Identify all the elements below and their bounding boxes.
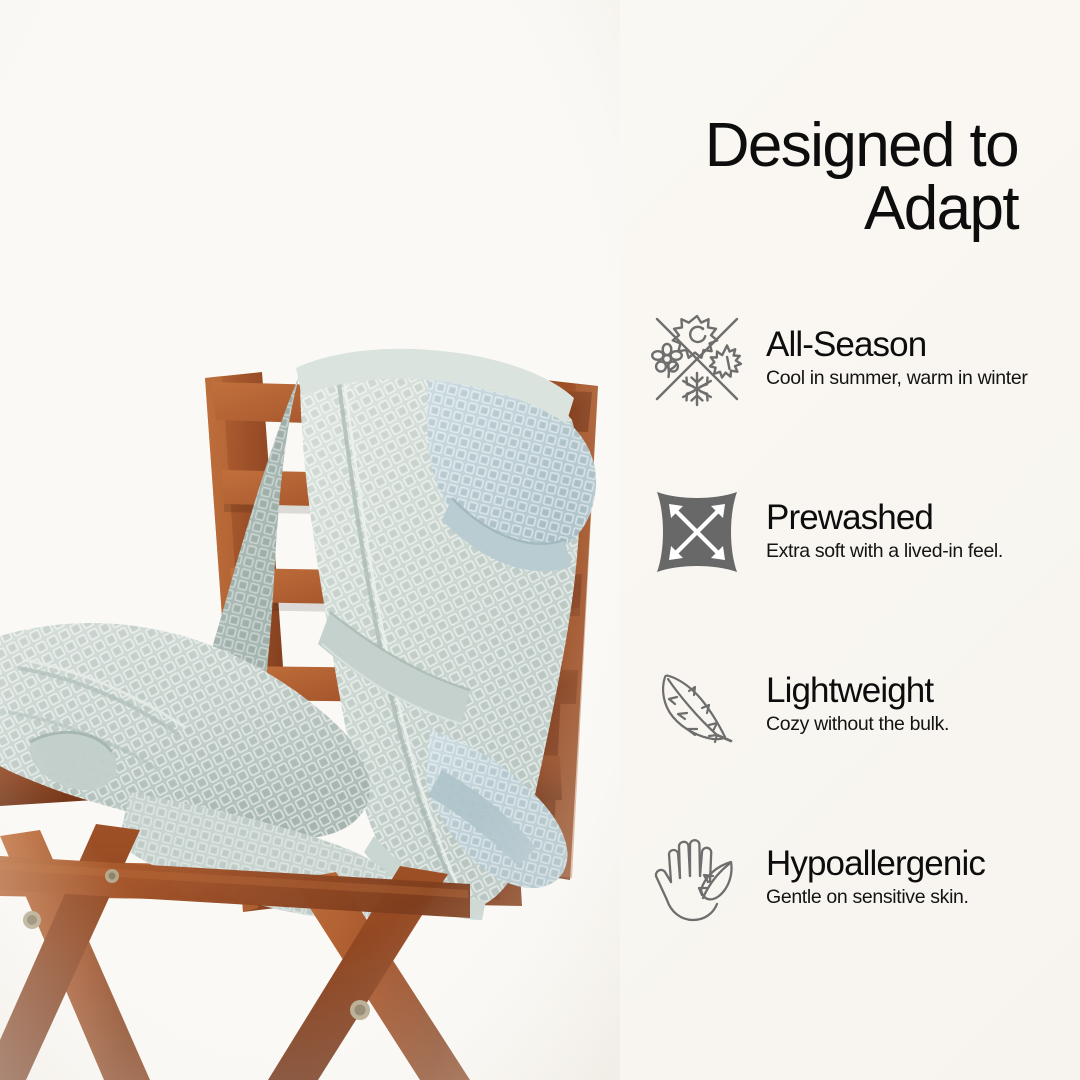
feature-item-hypoallergenic: Hypoallergenic Gentle on sensitive skin. bbox=[638, 819, 1080, 937]
headline-line-2: Adapt bbox=[618, 177, 1018, 240]
feature-subtitle: Extra soft with a lived-in feel. bbox=[766, 539, 1003, 563]
feature-title: Prewashed bbox=[766, 499, 1003, 536]
feature-title: Lightweight bbox=[766, 672, 949, 709]
feature-title: Hypoallergenic bbox=[766, 845, 985, 882]
content-panel: Designed toAdapt bbox=[620, 0, 1080, 1080]
feature-title: All-Season bbox=[766, 326, 1028, 363]
four-seasons-icon bbox=[638, 303, 756, 415]
feature-text-all-season: All-Season Cool in summer, warm in winte… bbox=[756, 326, 1028, 392]
feature-list: All-Season Cool in summer, warm in winte… bbox=[638, 300, 1080, 937]
chair-with-blanket-illustration bbox=[0, 0, 620, 1080]
pillow-expand-arrows-icon bbox=[638, 476, 756, 588]
hand-leaf-icon bbox=[638, 822, 756, 934]
feature-subtitle: Cozy without the bulk. bbox=[766, 712, 949, 736]
feature-item-all-season: All-Season Cool in summer, warm in winte… bbox=[638, 300, 1080, 418]
feature-subtitle: Cool in summer, warm in winter bbox=[766, 366, 1028, 390]
feature-text-lightweight: Lightweight Cozy without the bulk. bbox=[756, 672, 949, 738]
feature-item-lightweight: Lightweight Cozy without the bulk. bbox=[638, 646, 1080, 764]
feature-subtitle: Gentle on sensitive skin. bbox=[766, 885, 985, 909]
page-title: Designed toAdapt bbox=[618, 114, 1018, 240]
feature-text-prewashed: Prewashed Extra soft with a lived-in fee… bbox=[756, 499, 1003, 565]
feather-icon bbox=[638, 649, 756, 761]
feature-item-prewashed: Prewashed Extra soft with a lived-in fee… bbox=[638, 473, 1080, 591]
product-photo bbox=[0, 0, 620, 1080]
infographic-canvas: Designed toAdapt bbox=[0, 0, 1080, 1080]
feature-text-hypoallergenic: Hypoallergenic Gentle on sensitive skin. bbox=[756, 845, 985, 911]
headline-line-1: Designed to bbox=[705, 111, 1018, 180]
